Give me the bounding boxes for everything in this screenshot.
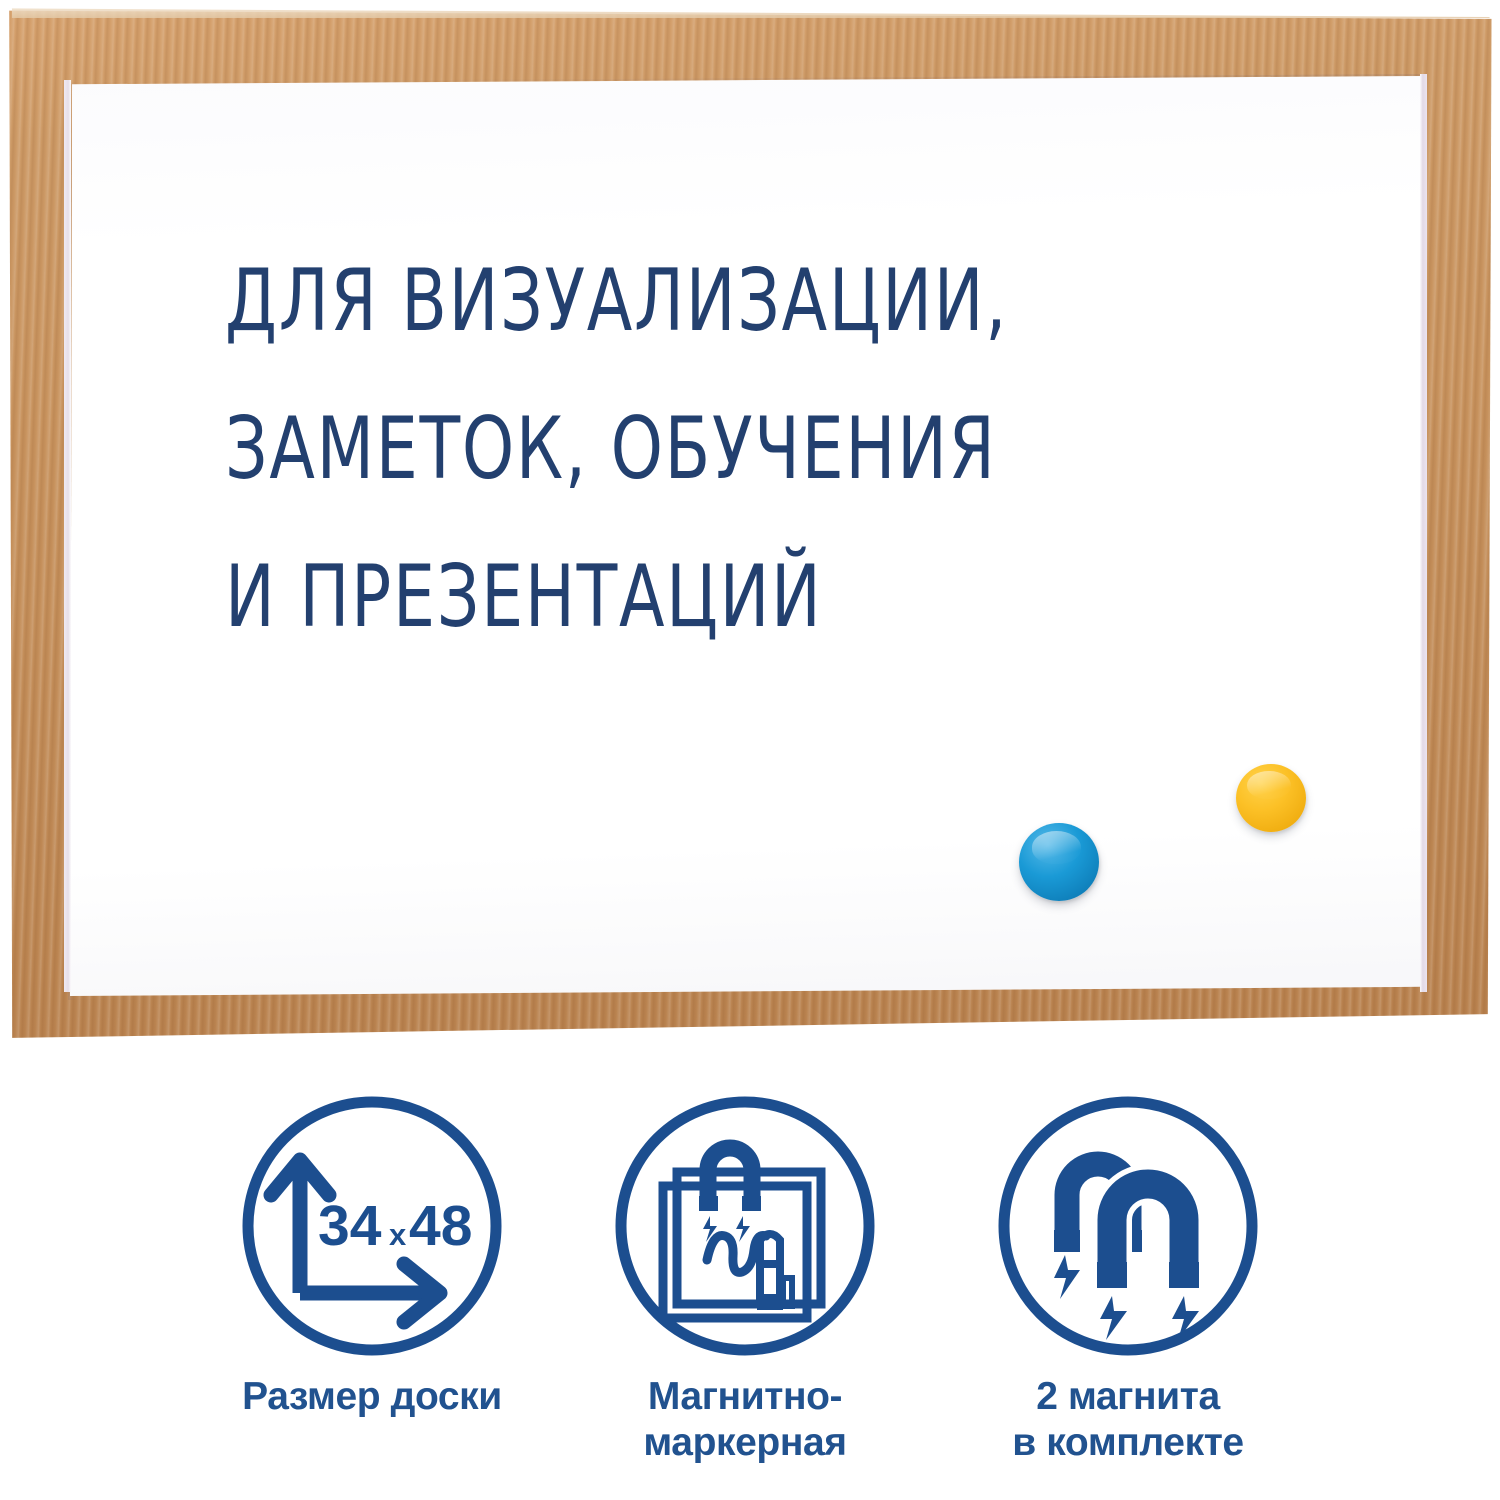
two-magnets-icon [994, 1092, 1262, 1360]
whiteboard-product-photo: ДЛЯ ВИЗУАЛИЗАЦИИ, ЗАМЕТОК, ОБУЧЕНИЯ И ПР… [0, 0, 1500, 1060]
board-size-icon: 34 x 48 [238, 1092, 506, 1360]
board-trim-left [64, 80, 71, 992]
magnet-blue [1019, 823, 1099, 901]
board-size-value-2: 48 [409, 1194, 472, 1258]
board-headline-line-3: И ПРЕЗЕНТАЦИЙ [225, 524, 1154, 672]
feature-magnetic-marker: Магнитно- маркерная [565, 1080, 925, 1466]
board-headline-line-1: ДЛЯ ВИЗУАЛИЗАЦИИ, [225, 228, 1154, 376]
board-headline: ДЛЯ ВИЗУАЛИЗАЦИИ, ЗАМЕТОК, ОБУЧЕНИЯ И ПР… [225, 228, 1154, 672]
magnetic-marker-board-icon [611, 1092, 879, 1360]
feature-board-size-label: Размер доски [192, 1374, 552, 1420]
magnet-yellow [1236, 764, 1306, 832]
feature-magnetic-marker-label: Магнитно- маркерная [565, 1374, 925, 1466]
feature-two-magnets: 2 магнита в комплекте [948, 1080, 1308, 1466]
board-trim-right [1420, 74, 1427, 992]
frame-top-bevel [6, 6, 1494, 18]
board-headline-line-2: ЗАМЕТОК, ОБУЧЕНИЯ [225, 376, 1154, 524]
feature-two-magnets-label: 2 магнита в комплекте [948, 1374, 1308, 1466]
board-size-value-1: 34 [318, 1194, 382, 1258]
board-size-separator: x [389, 1217, 407, 1252]
feature-list: 34 x 48 Размер доски [0, 1080, 1500, 1500]
feature-board-size: 34 x 48 Размер доски [192, 1080, 552, 1420]
